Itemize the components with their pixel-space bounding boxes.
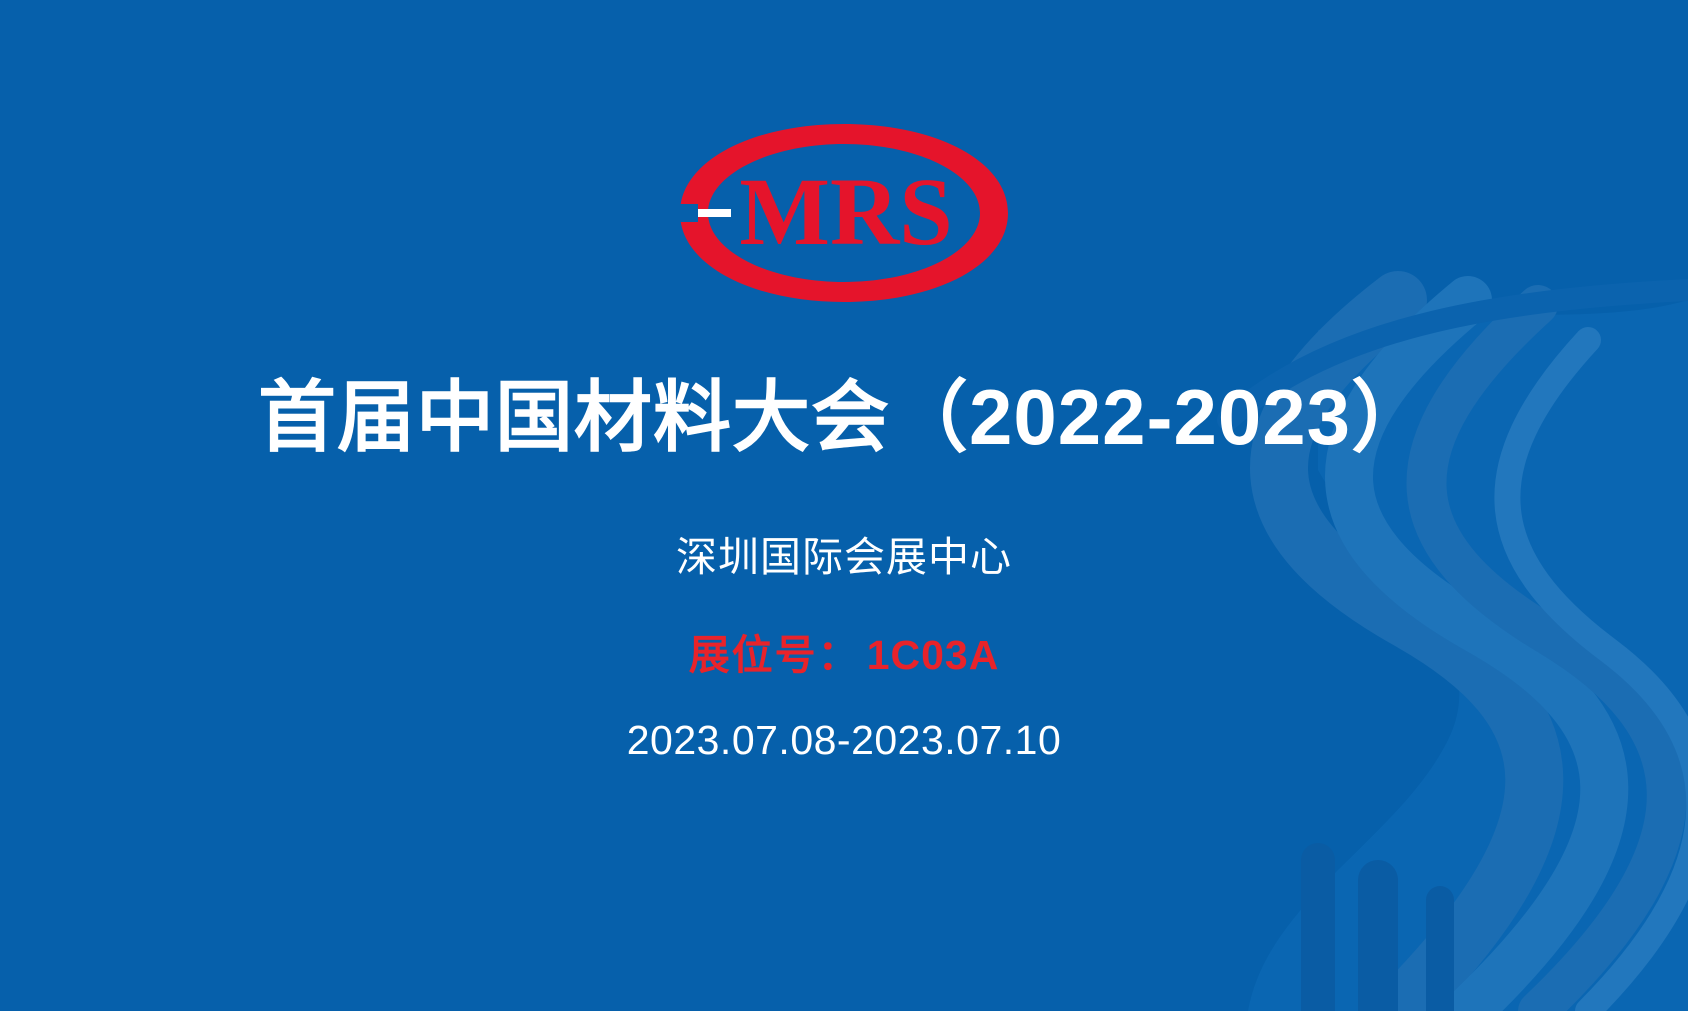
venue-name: 深圳国际会展中心 <box>0 523 1688 583</box>
conference-poster: MRS 首届中国材料大会（2022-2023） 深圳国际会展中心 展位号：1C0… <box>0 0 1688 1011</box>
booth-label: 展位号： <box>689 632 861 678</box>
logo-wordmark: MRS <box>739 158 952 265</box>
booth-number-line: 展位号：1C03A <box>0 621 1688 681</box>
page-title: 首届中国材料大会（2022-2023） <box>0 374 1688 461</box>
poster-text-block: 首届中国材料大会（2022-2023） 深圳国际会展中心 展位号：1C03A 2… <box>0 374 1688 764</box>
event-dates: 2023.07.08-2023.07.10 <box>0 717 1688 764</box>
cmrs-logo: MRS <box>0 118 1688 308</box>
booth-value: 1C03A <box>867 632 1000 678</box>
